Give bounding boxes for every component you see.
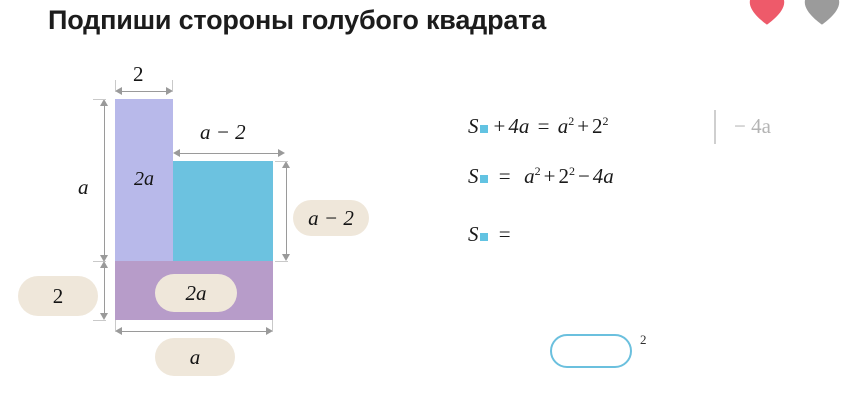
blue-square-subscript-icon [480, 233, 488, 241]
heart-filled-red-icon [748, 0, 786, 26]
lives-indicator [748, 0, 858, 36]
dimension-label-a-left: a [78, 175, 89, 200]
dimension-arrow-a-minus-2-right [281, 161, 290, 261]
tick-mark [93, 320, 106, 321]
dimension-arrow-a-left [99, 99, 108, 262]
equation-2-s-symbol: S [468, 164, 479, 188]
blue-square-subscript-icon [480, 125, 488, 133]
tick-mark [93, 99, 106, 100]
dimension-arrow-a-bottom [115, 326, 273, 335]
equation-3-s-symbol: S [468, 222, 479, 246]
equation-1-s-symbol: S [468, 114, 479, 138]
tick-mark [115, 320, 116, 332]
pill-a-minus-two[interactable]: a − 2 [293, 200, 369, 236]
tick-mark [275, 161, 288, 162]
pill-two-left[interactable]: 2 [18, 276, 98, 316]
dimension-label-top-2: 2 [133, 62, 144, 87]
hint-text: − 4a [734, 114, 771, 139]
tick-mark [272, 320, 273, 332]
equation-2-rhs-4a: 4a [593, 164, 614, 188]
hint-divider [714, 110, 716, 144]
dimension-arrow-two-left [99, 261, 108, 320]
exercise-page: Подпиши стороны голубого квадрата 2a 2 [0, 0, 860, 411]
answer-input[interactable] [550, 334, 632, 368]
heart-filled-gray-icon [803, 0, 841, 26]
cyan-square [173, 161, 273, 261]
dimension-arrow-a-minus-2 [173, 148, 285, 157]
dimension-arrow-top-2 [115, 86, 173, 95]
lavender-rect-label: 2a [120, 168, 168, 191]
equation-line-3: S = 2 [468, 222, 514, 247]
equation-line-2: S = a2+22−4a [468, 164, 614, 189]
equation-2-rhs-4: 22 [558, 164, 575, 188]
pill-a-bottom[interactable]: a [155, 338, 235, 376]
dimension-label-a-minus-2: a − 2 [200, 120, 246, 145]
blue-square-subscript-icon [480, 175, 488, 183]
answer-wrapper: 2 [550, 334, 632, 368]
equation-1-rhs-2: 22 [592, 114, 609, 138]
geometry-figure: 2a 2 a − 2 a [0, 0, 440, 411]
equation-1-term: 4a [508, 114, 529, 138]
equation-line-1: S+4a = a2+22 [468, 114, 609, 139]
equation-2-rhs-a: a2 [524, 164, 541, 188]
answer-exponent: 2 [640, 332, 647, 348]
tick-mark [115, 80, 116, 92]
equation-1-rhs: a2 [558, 114, 575, 138]
pill-two-a[interactable]: 2a [155, 274, 237, 312]
tick-mark [172, 80, 173, 92]
tick-mark [275, 261, 288, 262]
